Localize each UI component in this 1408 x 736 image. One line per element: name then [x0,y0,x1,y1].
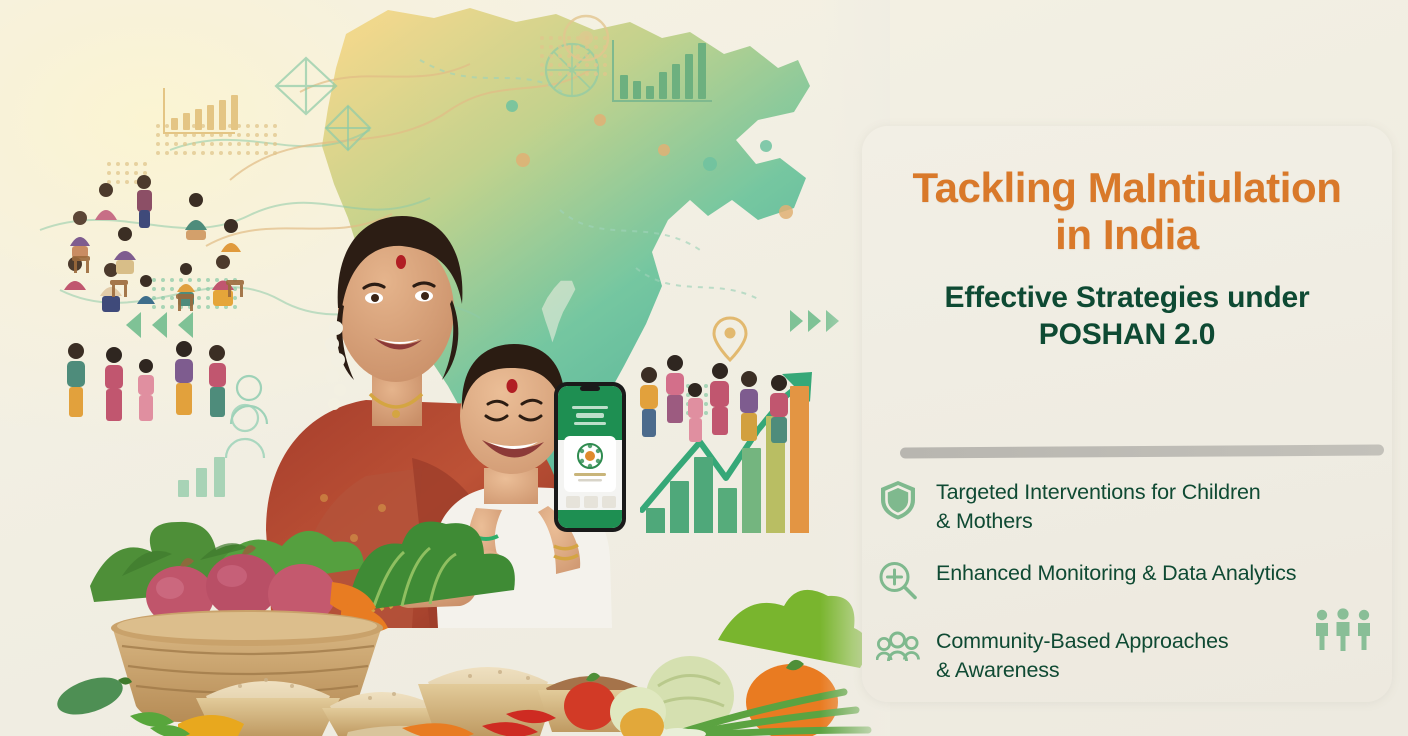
decorative-dot [215,296,219,300]
decorative-dot [107,162,111,166]
chart-bar [207,105,214,130]
triangle-left-icon-1 [126,312,141,338]
decorative-dot [273,124,277,128]
decorative-dot [143,162,147,166]
triangle-right-icon-2 [808,310,821,332]
decorative-dot [192,151,196,155]
decorative-dot [594,45,598,49]
decorative-dot [197,305,201,309]
top-bar-chart [612,40,712,102]
decorative-dot [558,63,562,67]
decorative-dot [174,151,178,155]
decorative-dot [206,278,210,282]
decorative-dot [219,151,223,155]
people-group-icon [876,627,920,671]
decorative-dot [224,287,228,291]
decorative-dot [273,151,277,155]
decorative-dot [197,296,201,300]
decorative-dot [228,151,232,155]
decorative-dot [116,171,120,175]
decorative-dot [170,296,174,300]
decorative-dot [224,305,228,309]
decorative-dot [170,287,174,291]
decorative-dot [183,142,187,146]
decorative-dot [549,45,553,49]
decorative-dot [134,171,138,175]
decorative-dot [188,305,192,309]
decorative-dot [152,278,156,282]
chart-bar [219,100,226,130]
decorative-dot [567,36,571,40]
decorative-dot [540,63,544,67]
decorative-dot [192,142,196,146]
chart-bar [214,457,225,497]
decorative-dot [549,63,553,67]
decorative-dot [576,63,580,67]
decorative-dot [170,305,174,309]
list-item[interactable]: Targeted Interventions for Children & Mo… [876,476,1384,557]
decorative-dot [210,151,214,155]
decorative-dot [603,54,607,58]
chart-bar [171,118,178,130]
decorative-dot [233,296,237,300]
decorative-dot [134,162,138,166]
decorative-dot [273,142,277,146]
decorative-dot [576,36,580,40]
chart-bar [196,468,207,497]
decorative-dot [246,142,250,146]
decorative-dot [246,151,250,155]
decorative-dot [125,180,129,184]
decorative-dot [594,54,598,58]
chart-bar [620,75,628,99]
decorative-dot [125,171,129,175]
decorative-dot [206,305,210,309]
decorative-dot [603,45,607,49]
triangle-left-icon-3 [178,312,193,338]
decorative-dot [540,45,544,49]
dot-grid-decoration-3 [107,162,149,184]
decorative-dot [161,287,165,291]
chart-bar [646,86,654,99]
strategy-list: Targeted Interventions for Children & Mo… [876,476,1384,706]
decorative-dot [179,278,183,282]
decorative-dot [161,296,165,300]
chart-bar [183,113,190,130]
list-item[interactable]: Enhanced Monitoring & Data Analytics [876,557,1384,625]
decorative-dot [161,278,165,282]
decorative-dot [246,124,250,128]
decorative-dot [183,151,187,155]
decorative-dot [143,171,147,175]
magnifier-plus-icon [876,559,920,603]
decorative-dot [576,72,580,76]
page-subtitle-line1: Effective Strategies under [945,281,1310,314]
community-illustration-row [60,336,240,432]
decorative-dot [152,305,156,309]
decorative-dot [156,133,160,137]
decorative-dot [206,296,210,300]
decorative-dot [585,72,589,76]
decorative-dot [170,278,174,282]
decorative-dot [558,72,562,76]
chart-bar [685,54,693,99]
decorative-dot [161,305,165,309]
decorative-dot [179,287,183,291]
decorative-dot [224,296,228,300]
decorative-dot [585,63,589,67]
decorative-dot [255,142,259,146]
decorative-dot [567,45,571,49]
decorative-dot [156,124,160,128]
chart-bar [659,72,667,99]
vegetables-and-grains-foreground [30,500,890,736]
decorative-dot [116,180,120,184]
page-title: Tackling MaIntiulation in India [862,126,1392,258]
decorative-dot [540,36,544,40]
decorative-dot [125,162,129,166]
triangle-right-icon-1 [790,310,803,332]
decorative-dot [594,36,598,40]
list-item-line1: Community-Based Approaches [936,629,1228,653]
decorative-dot [576,45,580,49]
decorative-dot [107,171,111,175]
decorative-dot [233,287,237,291]
chart-bar [195,109,202,130]
list-item-line2: & Awareness [936,658,1059,682]
small-tan-bar-chart [163,88,235,134]
list-item[interactable]: Community-Based Approaches & Awareness [876,625,1384,706]
dot-grid-decoration-2 [540,36,604,76]
chart-bar [633,81,641,99]
decorative-dot [179,305,183,309]
decorative-dot [188,296,192,300]
decorative-dot [255,133,259,137]
decorative-dot [585,45,589,49]
decorative-dot [558,36,562,40]
decorative-dot [585,36,589,40]
decorative-dot [603,36,607,40]
list-item-line1: Targeted Interventions for Children [936,480,1261,504]
page-subtitle: Effective Strategies under POSHAN 2.0 [862,258,1392,353]
decorative-dot [558,54,562,58]
decorative-dot [273,133,277,137]
decorative-dot [201,151,205,155]
decorative-dot [215,287,219,291]
decorative-dot [215,305,219,309]
decorative-dot [264,142,268,146]
decorative-dot [116,162,120,166]
decorative-dot [237,142,241,146]
triangle-right-icon-3 [826,310,839,332]
chart-bar [672,64,680,99]
decorative-dot [246,133,250,137]
list-item-line2: & Mothers [936,509,1033,533]
decorative-dot [594,63,598,67]
decorative-dot [107,180,111,184]
decorative-dot [567,63,571,67]
decorative-dot [156,151,160,155]
decorative-dot [197,278,201,282]
decorative-dot [603,72,607,76]
decorative-dot [152,287,156,291]
decorative-dot [264,151,268,155]
decorative-dot [201,142,205,146]
decorative-dot [152,296,156,300]
decorative-dot [233,278,237,282]
poster-canvas: Tackling MaIntiulation in India Effectiv… [0,0,1408,736]
decorative-dot [264,133,268,137]
small-mint-bar-chart [178,455,238,497]
decorative-dot [576,54,580,58]
decorative-dot [188,278,192,282]
decorative-dot [219,142,223,146]
decorative-dot [165,151,169,155]
decorative-dot [228,142,232,146]
decorative-dot [197,287,201,291]
three-people-icon [1312,608,1376,652]
triangle-left-icon-2 [152,312,167,338]
decorative-dot [179,296,183,300]
decorative-dot [540,54,544,58]
decorative-dot [210,142,214,146]
decorative-dot [224,278,228,282]
decorative-dot [585,54,589,58]
decorative-dot [264,124,268,128]
decorative-dot [594,72,598,76]
decorative-dot [567,54,571,58]
decorative-dot [255,124,259,128]
decorative-dot [549,72,553,76]
decorative-dot [143,180,147,184]
decorative-dot [134,180,138,184]
page-subtitle-line2: POSHAN 2.0 [1039,318,1215,351]
shield-icon [876,478,920,522]
decorative-dot [206,287,210,291]
list-item-label: Targeted Interventions for Children & Mo… [936,476,1261,535]
decorative-dot [567,72,571,76]
decorative-dot [215,278,219,282]
decorative-dot [237,133,241,137]
list-item-line1: Enhanced Monitoring & Data Analytics [936,561,1296,585]
chart-bar [698,43,706,99]
decorative-dot [255,151,259,155]
location-pin-icon [712,316,748,362]
decorative-dot [558,45,562,49]
chart-bar [178,480,189,497]
decorative-dot [156,142,160,146]
page-title-line1: Tackling MaIntiulation [912,164,1341,211]
dot-grid-decoration-4 [152,278,236,310]
decorative-dot [188,287,192,291]
decorative-dot [237,151,241,155]
decorative-dot [603,63,607,67]
decorative-dot [540,72,544,76]
decorative-dot [165,142,169,146]
decorative-dot [233,305,237,309]
decorative-dot [174,142,178,146]
section-divider [900,445,1384,459]
chart-bar [231,95,238,130]
list-item-label: Community-Based Approaches & Awareness [936,625,1228,684]
info-card: Tackling MaIntiulation in India Effectiv… [862,126,1392,702]
list-item-label: Enhanced Monitoring & Data Analytics [936,557,1296,588]
decorative-dot [549,36,553,40]
page-title-line2: in India [1055,211,1199,258]
decorative-dot [549,54,553,58]
